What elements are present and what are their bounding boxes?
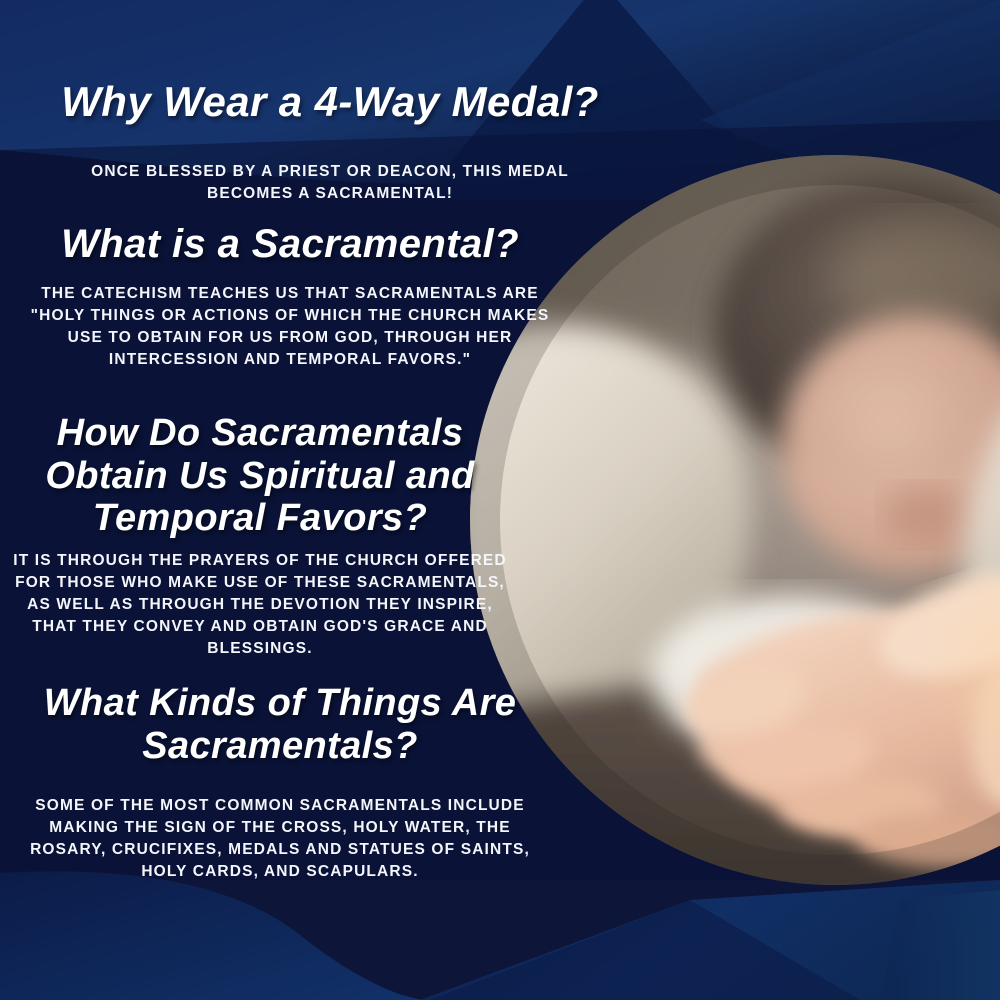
poster-canvas: Why Wear a 4-Way Medal? ONCE BLESSED BY … <box>0 0 1000 1000</box>
section-what-is-a-sacramental: What is a Sacramental? THE CATECHISM TEA… <box>0 222 580 371</box>
section-2-body: THE CATECHISM TEACHES US THAT SACRAMENTA… <box>30 283 550 371</box>
section-1-heading: Why Wear a 4-Way Medal? <box>0 78 660 125</box>
section-2-heading: What is a Sacramental? <box>0 222 580 267</box>
section-4-body: SOME OF THE MOST COMMON SACRAMENTALS INC… <box>15 795 545 883</box>
section-4-heading: What Kinds of Things Are Sacramentals? <box>0 682 560 767</box>
poster-content: Why Wear a 4-Way Medal? ONCE BLESSED BY … <box>0 0 1000 1000</box>
section-what-kinds-of-things: What Kinds of Things Are Sacramentals? S… <box>0 682 560 883</box>
section-3-heading: How Do Sacramentals Obtain Us Spiritual … <box>0 412 520 540</box>
section-why-wear: Why Wear a 4-Way Medal? ONCE BLESSED BY … <box>0 78 660 205</box>
section-how-do-sacramentals-obtain: How Do Sacramentals Obtain Us Spiritual … <box>0 412 520 660</box>
section-3-body: IT IS THROUGH THE PRAYERS OF THE CHURCH … <box>10 550 510 660</box>
section-1-body: ONCE BLESSED BY A PRIEST OR DEACON, THIS… <box>50 161 610 205</box>
